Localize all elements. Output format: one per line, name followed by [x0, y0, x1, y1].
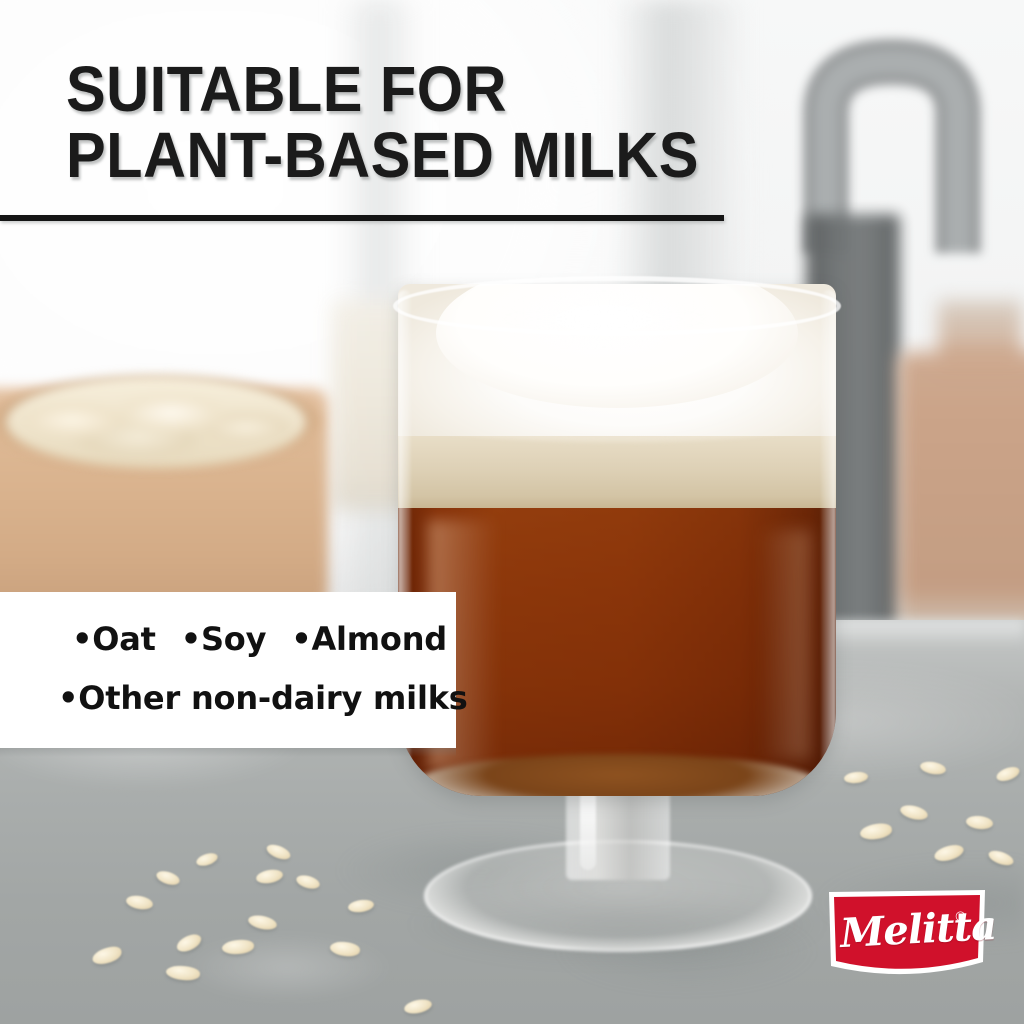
page-title: SUITABLE FOR PLANT-BASED MILKS: [66, 56, 884, 188]
glass-stem-highlight: [580, 790, 596, 870]
registered-trademark-icon: ®: [954, 910, 967, 925]
glass-wall-right: [821, 290, 836, 790]
list-item: •Oat: [72, 620, 156, 658]
melitta-logo: Melitta ®: [826, 888, 988, 992]
glass-carafe: [898, 352, 1024, 642]
bullet-row-secondary: •Other non-dairy milks: [58, 679, 468, 717]
glass-bowl: [398, 284, 836, 796]
melitta-wordmark: Melitta: [839, 902, 997, 957]
feature-list-panel-shadow: [0, 748, 456, 757]
list-item: •Almond: [291, 620, 447, 658]
coffee-highlight-right: [758, 530, 810, 760]
headline-underline-rule: [0, 215, 724, 221]
promo-image-canvas: SUITABLE FOR PLANT-BASED MILKS •Oat •Soy…: [0, 0, 1024, 1024]
headline-line-2: PLANT-BASED MILKS: [66, 122, 884, 188]
oats-in-bowl: [6, 376, 306, 468]
headline-line-1: SUITABLE FOR: [66, 53, 507, 125]
glass-rim: [393, 276, 841, 336]
list-item: •Soy: [181, 620, 267, 658]
feature-list-panel: [0, 592, 456, 748]
bullet-row-primary: •Oat •Soy •Almond: [72, 620, 447, 658]
list-item: •Other non-dairy milks: [58, 679, 468, 717]
coffee-glass: [398, 284, 836, 814]
